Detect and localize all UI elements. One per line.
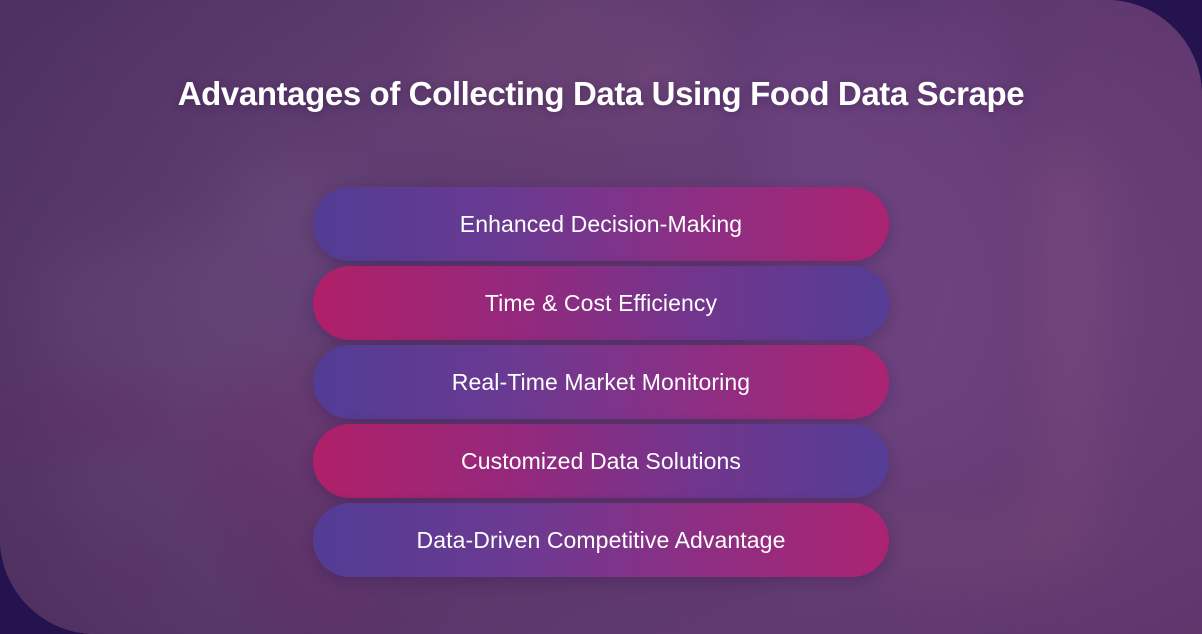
advantage-label: Real-Time Market Monitoring	[452, 369, 750, 396]
advantage-item-1[interactable]: Enhanced Decision-Making	[313, 187, 889, 261]
advantage-label: Data-Driven Competitive Advantage	[417, 527, 786, 554]
infographic-banner: Advantages of Collecting Data Using Food…	[0, 0, 1202, 634]
advantage-label: Enhanced Decision-Making	[460, 211, 742, 238]
advantage-item-4[interactable]: Customized Data Solutions	[313, 424, 889, 498]
advantage-item-2[interactable]: Time & Cost Efficiency	[313, 266, 889, 340]
advantage-item-3[interactable]: Real-Time Market Monitoring	[313, 345, 889, 419]
advantage-label: Time & Cost Efficiency	[485, 290, 717, 317]
page-title: Advantages of Collecting Data Using Food…	[0, 74, 1202, 114]
advantage-item-5[interactable]: Data-Driven Competitive Advantage	[313, 503, 889, 577]
banner-card: Advantages of Collecting Data Using Food…	[0, 0, 1202, 634]
banner-content: Advantages of Collecting Data Using Food…	[0, 0, 1202, 634]
advantage-label: Customized Data Solutions	[461, 448, 741, 475]
advantages-list: Enhanced Decision-Making Time & Cost Eff…	[313, 187, 889, 577]
